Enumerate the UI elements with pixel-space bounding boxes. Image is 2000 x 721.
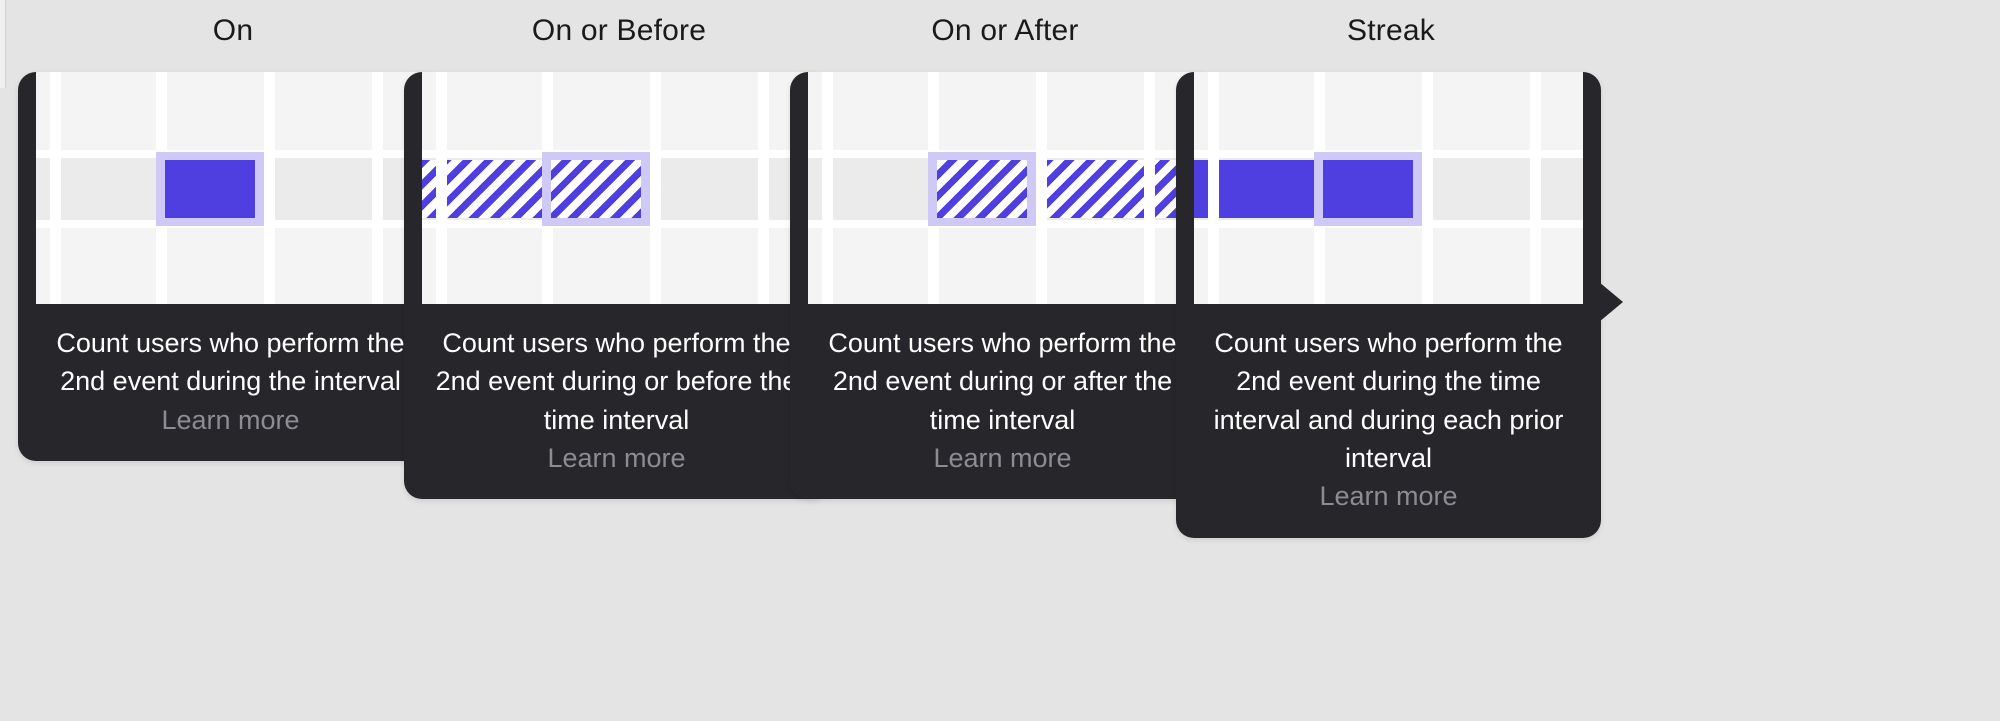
grid-visual-on-or-after	[808, 72, 1197, 304]
event-bar-solid	[1323, 160, 1413, 218]
retention-mode-cards: On Count users who perform the 2nd event…	[0, 0, 2000, 721]
column-title-on-or-before: On or Before	[404, 14, 834, 48]
grid-vline	[650, 72, 661, 304]
column-title-on: On	[18, 14, 448, 48]
column-on: On Count users who perform the 2nd event…	[18, 14, 448, 461]
column-on-or-before: On or Before Count users wh	[404, 14, 834, 499]
event-bar-solid	[1194, 160, 1208, 218]
grid-vline	[436, 72, 447, 304]
event-bar-striped	[937, 160, 1027, 218]
grid-vline	[50, 72, 61, 304]
card-description-on-or-before: Count users who perform the 2nd event du…	[404, 304, 829, 439]
card-on[interactable]: Count users who perform the 2nd event du…	[18, 72, 443, 461]
learn-more-link-on-or-before[interactable]: Learn more	[404, 439, 829, 499]
card-on-or-after[interactable]: Count users who perform the 2nd event du…	[790, 72, 1215, 499]
column-title-on-or-after: On or After	[790, 14, 1220, 48]
grid-band-bottom	[808, 228, 1197, 304]
grid-band-top	[808, 72, 1197, 150]
grid-canvas	[422, 72, 811, 304]
column-streak: Streak Count users who perf	[1176, 14, 1606, 538]
grid-band-top	[422, 72, 811, 150]
grid-canvas	[36, 72, 425, 304]
card-description-streak: Count users who perform the 2nd event du…	[1176, 304, 1601, 477]
card-description-on-or-after: Count users who perform the 2nd event du…	[790, 304, 1215, 439]
card-pointer-icon	[1599, 282, 1623, 322]
grid-visual-on	[36, 72, 425, 304]
learn-more-link-streak[interactable]: Learn more	[1176, 477, 1601, 537]
event-bar-striped	[551, 160, 641, 218]
grid-band-bottom	[36, 228, 425, 304]
grid-vline	[264, 72, 275, 304]
card-streak[interactable]: Count users who perform the 2nd event du…	[1176, 72, 1601, 538]
grid-canvas	[808, 72, 1197, 304]
learn-more-link-on[interactable]: Learn more	[18, 401, 443, 461]
grid-band-bottom	[1194, 228, 1583, 304]
grid-vline	[1422, 72, 1433, 304]
event-bar-striped	[1047, 160, 1144, 218]
grid-band-top	[36, 72, 425, 150]
grid-canvas	[1194, 72, 1583, 304]
event-bar-striped	[422, 160, 436, 218]
grid-vline	[822, 72, 833, 304]
event-bar-striped	[447, 160, 542, 218]
grid-band-top	[1194, 72, 1583, 150]
column-on-or-after: On or After Count users who	[790, 14, 1220, 499]
grid-visual-on-or-before	[422, 72, 811, 304]
grid-vline	[1036, 72, 1047, 304]
grid-vline	[758, 72, 769, 304]
column-title-streak: Streak	[1176, 14, 1606, 48]
learn-more-link-on-or-after[interactable]: Learn more	[790, 439, 1215, 499]
grid-vline	[372, 72, 383, 304]
card-description-on: Count users who perform the 2nd event du…	[18, 304, 443, 401]
grid-band-bottom	[422, 228, 811, 304]
grid-vline	[1208, 72, 1219, 304]
grid-visual-streak	[1194, 72, 1583, 304]
grid-vline	[1530, 72, 1541, 304]
event-bar-solid	[1219, 160, 1314, 218]
grid-vline	[1144, 72, 1155, 304]
event-bar-solid	[165, 160, 255, 218]
card-on-or-before[interactable]: Count users who perform the 2nd event du…	[404, 72, 829, 499]
